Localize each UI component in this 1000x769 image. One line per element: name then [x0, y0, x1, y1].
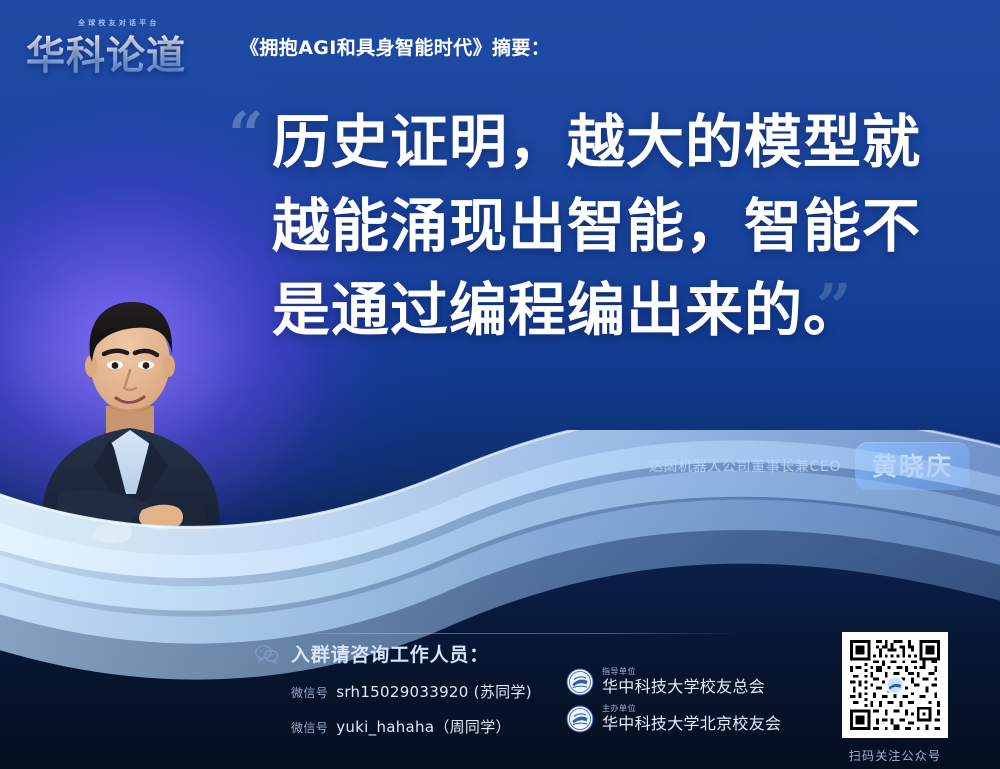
organization-text-1: 指导单位 华中科技大学校友总会	[602, 668, 765, 695]
poster-canvas: 全球校友对话平台 华科论道 《拥抱AGI和具身智能时代》摘要： “ ” 历史证明…	[0, 0, 1000, 769]
organization-name-2: 华中科技大学北京校友会	[602, 716, 781, 733]
wechat-label-1: 微信号	[291, 684, 328, 701]
organization-kind-1: 指导单位	[602, 668, 765, 676]
quote-block: 历史证明，越大的模型就 越能涌现出智能，智能不 是通过编程编出来的。	[272, 100, 962, 352]
header-subtitle: 《拥抱AGI和具身智能时代》摘要：	[240, 33, 550, 60]
wechat-value-2[interactable]: yuki_hahaha（周同学）	[336, 716, 511, 737]
wechat-icon	[255, 644, 279, 664]
speaker-portrait	[22, 288, 238, 553]
quote-line-3: 是通过编程编出来的。	[272, 268, 962, 352]
quote-line-2: 越能涌现出智能，智能不	[272, 184, 962, 268]
university-seal-icon	[566, 668, 594, 696]
qr-caption: 扫码关注公众号	[837, 747, 953, 764]
speaker-name-badge: 黄晓庆	[855, 442, 970, 490]
contact-header: 入群请咨询工作人员：	[255, 640, 815, 667]
contact-title: 入群请咨询工作人员：	[291, 640, 489, 667]
organizations-section: 指导单位 华中科技大学校友总会 主办单位 华中科技大学北京校友会	[566, 668, 781, 742]
quote-line-1: 历史证明，越大的模型就	[272, 100, 962, 184]
logo-wordmark: 华科论道	[26, 25, 186, 81]
qr-section: 扫码关注公众号	[837, 632, 953, 764]
organization-text-2: 主办单位 华中科技大学北京校友会	[602, 705, 781, 732]
speaker-title: 达闼机器人公司董事长兼CEO	[649, 456, 841, 476]
organization-row-1: 指导单位 华中科技大学校友总会	[566, 668, 781, 696]
organization-name-1: 华中科技大学校友总会	[602, 679, 765, 696]
qr-code-image[interactable]	[842, 632, 948, 738]
wechat-value-1[interactable]: srh15029033920 (苏同学)	[336, 681, 532, 702]
wechat-label-2: 微信号	[291, 719, 328, 736]
speaker-attribution: 达闼机器人公司董事长兼CEO 黄晓庆	[649, 442, 970, 490]
organization-kind-2: 主办单位	[602, 705, 781, 713]
organization-row-2: 主办单位 华中科技大学北京校友会	[566, 705, 781, 733]
section-divider	[288, 633, 733, 634]
poster-header: 全球校友对话平台 华科论道 《拥抱AGI和具身智能时代》摘要：	[0, 0, 1000, 92]
open-quote-icon: “	[228, 104, 264, 166]
university-seal-icon	[566, 705, 594, 733]
brand-logo: 全球校友对话平台 华科论道	[26, 16, 216, 76]
